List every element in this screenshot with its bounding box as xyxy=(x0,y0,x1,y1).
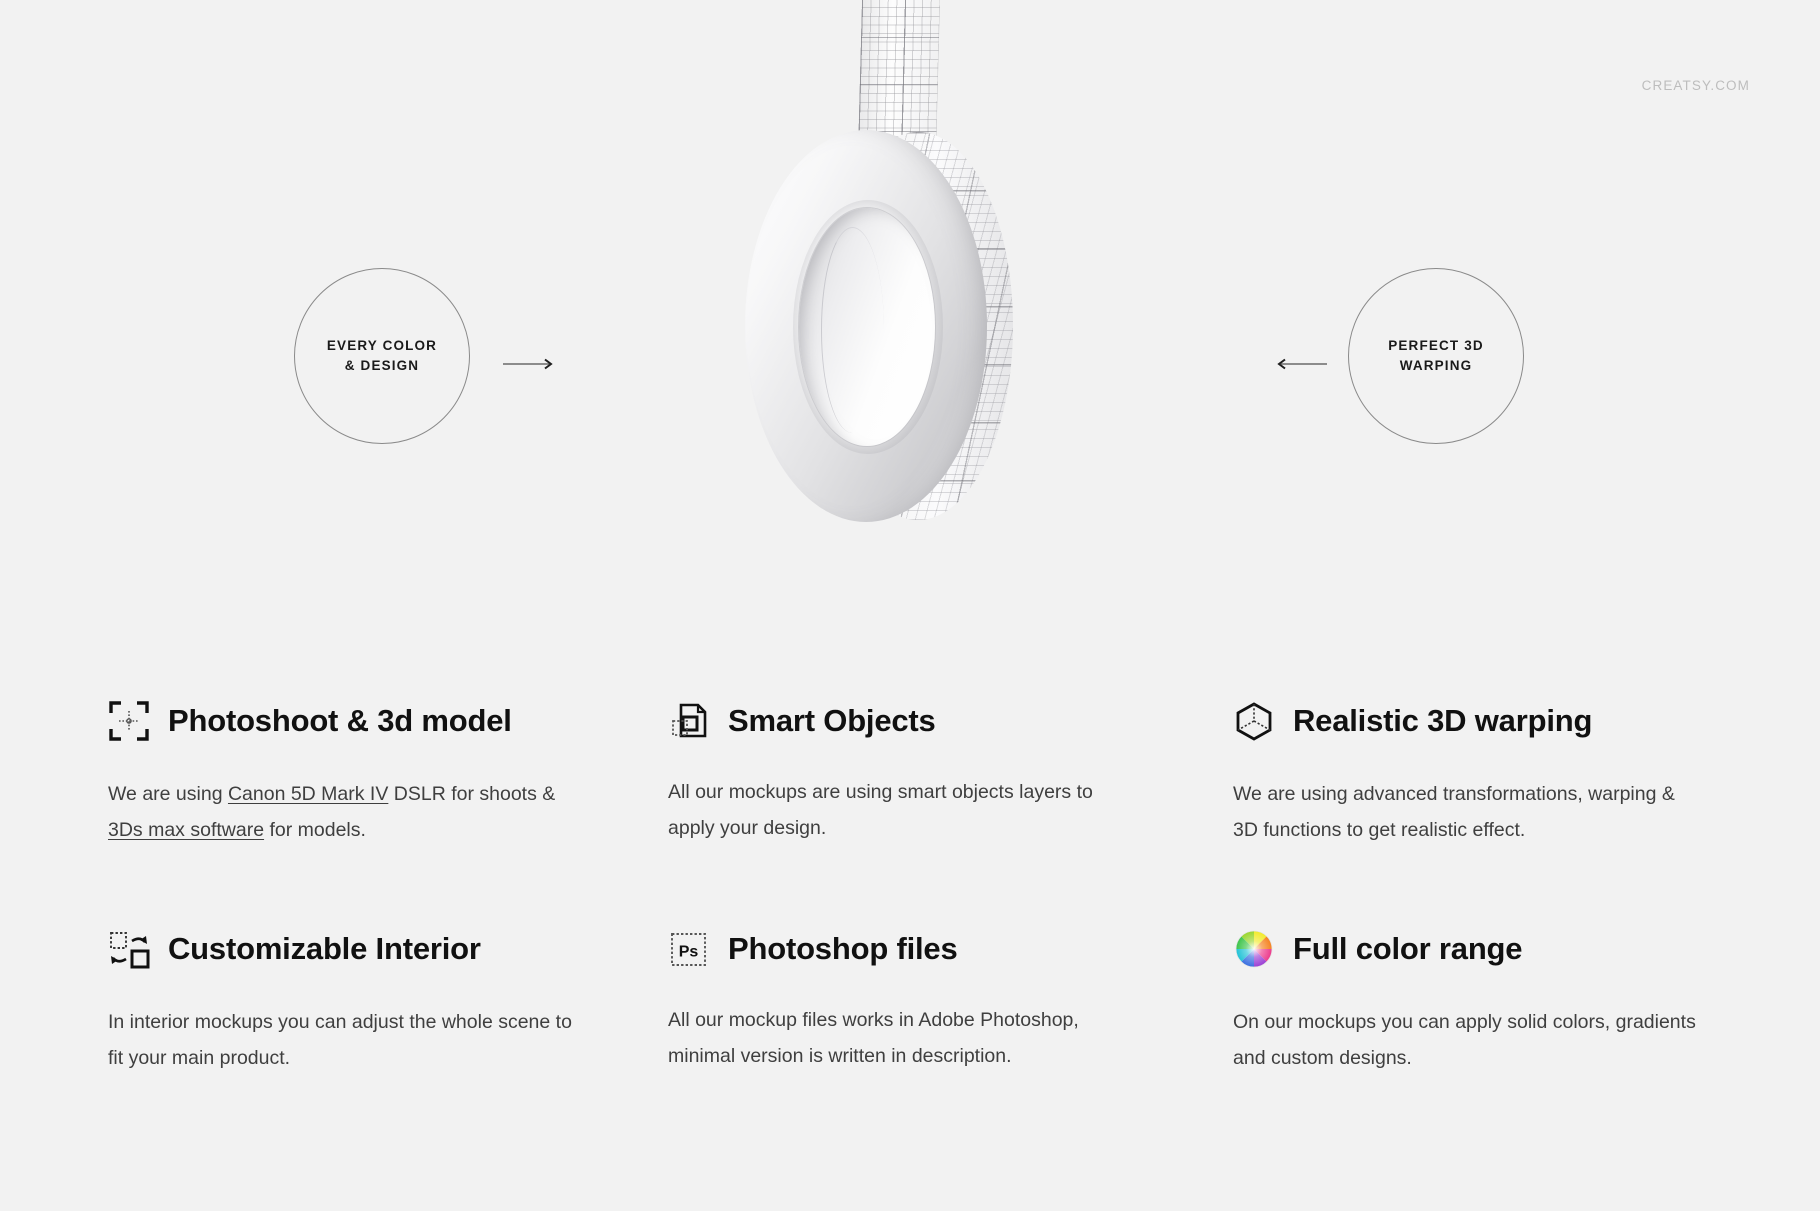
crop-focus-icon xyxy=(108,700,150,742)
inline-text: In interior mockups you can adjust the w… xyxy=(108,1011,572,1069)
tape-roll-mockup xyxy=(745,0,1075,620)
feature-heading: Realistic 3D warping xyxy=(1233,700,1718,742)
inline-text: DSLR for shoots & xyxy=(388,783,555,805)
inline-link[interactable]: 3Ds max software xyxy=(108,819,264,841)
inline-text: All our mockup files works in Adobe Phot… xyxy=(668,1009,1079,1067)
feature-heading: Smart Objects xyxy=(668,700,1233,742)
feature-customizable-interior: Customizable Interior In interior mockup… xyxy=(108,928,668,1076)
features-grid: Photoshoot & 3d model We are using Canon… xyxy=(108,700,1718,1076)
smart-object-icon xyxy=(668,700,710,742)
tape-roll xyxy=(745,130,1030,522)
cube-3d-icon xyxy=(1233,700,1275,742)
inline-text: for models. xyxy=(264,819,366,841)
feature-body: On our mockups you can apply solid color… xyxy=(1233,1004,1703,1076)
inline-text: We are using advanced transformations, w… xyxy=(1233,783,1675,841)
feature-body: All our mockups are using smart objects … xyxy=(668,774,1138,846)
inline-text: On our mockups you can apply solid color… xyxy=(1233,1011,1696,1069)
feature-realistic-3d-warping: Realistic 3D warping We are using advanc… xyxy=(1233,700,1718,848)
feature-full-color-range: Full color range On our mockups you can … xyxy=(1233,928,1718,1076)
badge-every-color-design: EVERY COLOR & DESIGN xyxy=(294,268,470,444)
badge-perfect-3d-warping: PERFECT 3D WARPING xyxy=(1348,268,1524,444)
inline-link[interactable]: Canon 5D Mark IV xyxy=(228,783,388,805)
feature-title: Photoshop files xyxy=(728,932,958,966)
feature-title: Realistic 3D warping xyxy=(1293,704,1592,738)
inline-text: All our mockups are using smart objects … xyxy=(668,781,1093,839)
feature-body: In interior mockups you can adjust the w… xyxy=(108,1004,578,1076)
swap-shapes-icon xyxy=(108,928,150,970)
feature-title: Smart Objects xyxy=(728,704,936,738)
svg-text:Ps: Ps xyxy=(679,944,699,961)
feature-body: We are using advanced transformations, w… xyxy=(1233,776,1703,848)
photoshop-ps-icon: Ps xyxy=(668,928,710,970)
color-wheel-icon xyxy=(1233,928,1275,970)
inline-text: We are using xyxy=(108,783,228,805)
tape-roll-core-hole xyxy=(799,208,935,446)
feature-body: We are using Canon 5D Mark IV DSLR for s… xyxy=(108,776,578,848)
feature-photoshop-files: Ps Photoshop files All our mockup files … xyxy=(668,928,1233,1076)
feature-title: Full color range xyxy=(1293,932,1522,966)
feature-smart-objects: Smart Objects All our mockups are using … xyxy=(668,700,1233,848)
badge-label: PERFECT 3D WARPING xyxy=(1388,336,1484,375)
feature-heading: Photoshoot & 3d model xyxy=(108,700,668,742)
feature-body: All our mockup files works in Adobe Phot… xyxy=(668,1002,1138,1074)
feature-heading: Full color range xyxy=(1233,928,1718,970)
arrow-right-icon xyxy=(503,357,555,371)
hero-section: EVERY COLOR & DESIGN PERFECT 3D WARPING xyxy=(0,0,1820,660)
feature-heading: Customizable Interior xyxy=(108,928,668,970)
feature-photoshoot-3d-model: Photoshoot & 3d model We are using Canon… xyxy=(108,700,668,848)
feature-title: Customizable Interior xyxy=(168,932,481,966)
arrow-left-icon xyxy=(1275,357,1327,371)
feature-title: Photoshoot & 3d model xyxy=(168,704,512,738)
feature-heading: Ps Photoshop files xyxy=(668,928,1233,970)
badge-label: EVERY COLOR & DESIGN xyxy=(327,336,437,375)
